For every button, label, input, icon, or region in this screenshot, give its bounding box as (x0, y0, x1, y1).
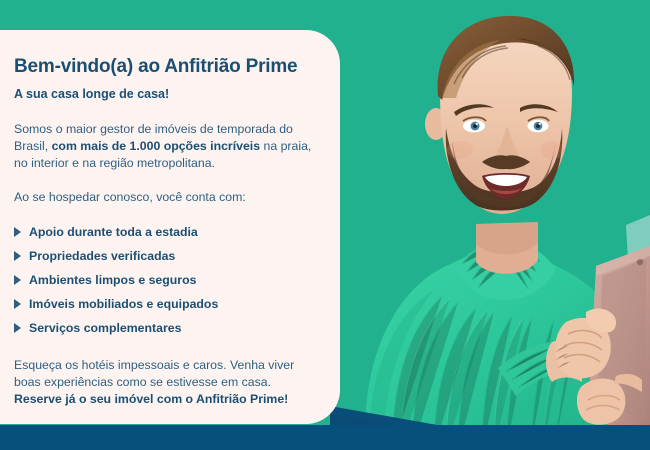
benefit-label: Ambientes limpos e seguros (29, 273, 196, 287)
benefit-label: Serviços complementares (29, 321, 181, 335)
host-photo (330, 0, 650, 450)
closing-paragraph: Esqueça os hotéis impessoais e caros. Ve… (14, 357, 316, 408)
list-item: Apoio durante toda a estadia (14, 220, 316, 244)
triangle-bullet-icon (14, 227, 21, 237)
benefit-label: Imóveis mobiliados e equipados (29, 297, 218, 311)
list-item: Serviços complementares (14, 316, 316, 340)
closing-text-before: Esqueça os hotéis impessoais e caros. Ve… (14, 358, 294, 389)
benefits-lead-in: Ao se hospedar conosco, você conta com: (14, 189, 316, 206)
benefit-label: Apoio durante toda a estadia (29, 225, 198, 239)
intro-text-highlight: com mais de 1.000 opções incríveis (52, 139, 260, 153)
footer-band (0, 425, 650, 450)
triangle-bullet-icon (14, 323, 21, 333)
list-item: Ambientes limpos e seguros (14, 268, 316, 292)
benefits-list: Apoio durante toda a estadia Propriedade… (14, 220, 316, 340)
promotional-banner: Bem-vindo(a) ao Anfitrião Prime A sua ca… (0, 0, 650, 450)
benefit-label: Propriedades verificadas (29, 249, 175, 263)
triangle-bullet-icon (14, 251, 21, 261)
welcome-card: Bem-vindo(a) ao Anfitrião Prime A sua ca… (0, 30, 340, 424)
triangle-bullet-icon (14, 275, 21, 285)
page-title: Bem-vindo(a) ao Anfitrião Prime (14, 56, 316, 78)
closing-call-to-action: Reserve já o seu imóvel com o Anfitrião … (14, 392, 288, 406)
intro-paragraph: Somos o maior gestor de imóveis de tempo… (14, 121, 316, 172)
card-subtitle: A sua casa longe de casa! (14, 87, 316, 101)
list-item: Propriedades verificadas (14, 244, 316, 268)
list-item: Imóveis mobiliados e equipados (14, 292, 316, 316)
triangle-bullet-icon (14, 299, 21, 309)
